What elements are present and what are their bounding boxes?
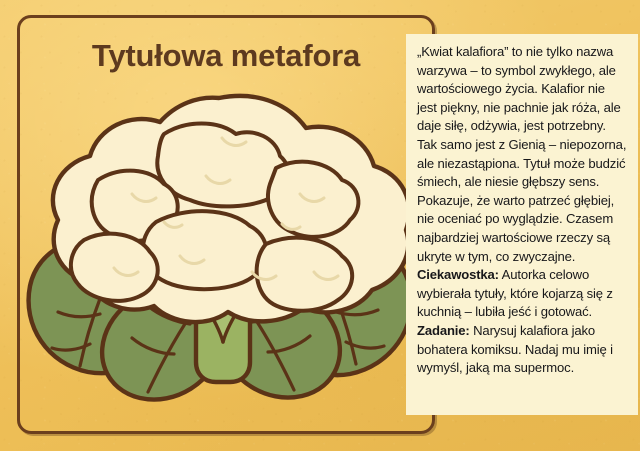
panel-paragraph-intro: „Kwiat kalafiora” to nie tylko nazwa war… <box>417 43 628 266</box>
info-panel: „Kwiat kalafiora” to nie tylko nazwa war… <box>406 34 638 415</box>
zadanie-label: Zadanie: <box>417 323 470 338</box>
cauliflower-svg <box>14 76 424 406</box>
poster-canvas: Tytułowa metafora <box>0 0 640 451</box>
panel-paragraph-ciekawostka: Ciekawostka: Autorka celowo wybierała ty… <box>417 266 628 322</box>
ciekawostka-label: Ciekawostka: <box>417 267 499 282</box>
page-title: Tytułowa metafora <box>17 38 435 74</box>
floret-group <box>53 96 409 322</box>
paragraph-text: „Kwiat kalafiora” to nie tylko nazwa war… <box>417 44 626 264</box>
cauliflower-illustration <box>14 76 424 406</box>
panel-paragraph-zadanie: Zadanie: Narysuj kalafiora jako bohatera… <box>417 322 628 378</box>
